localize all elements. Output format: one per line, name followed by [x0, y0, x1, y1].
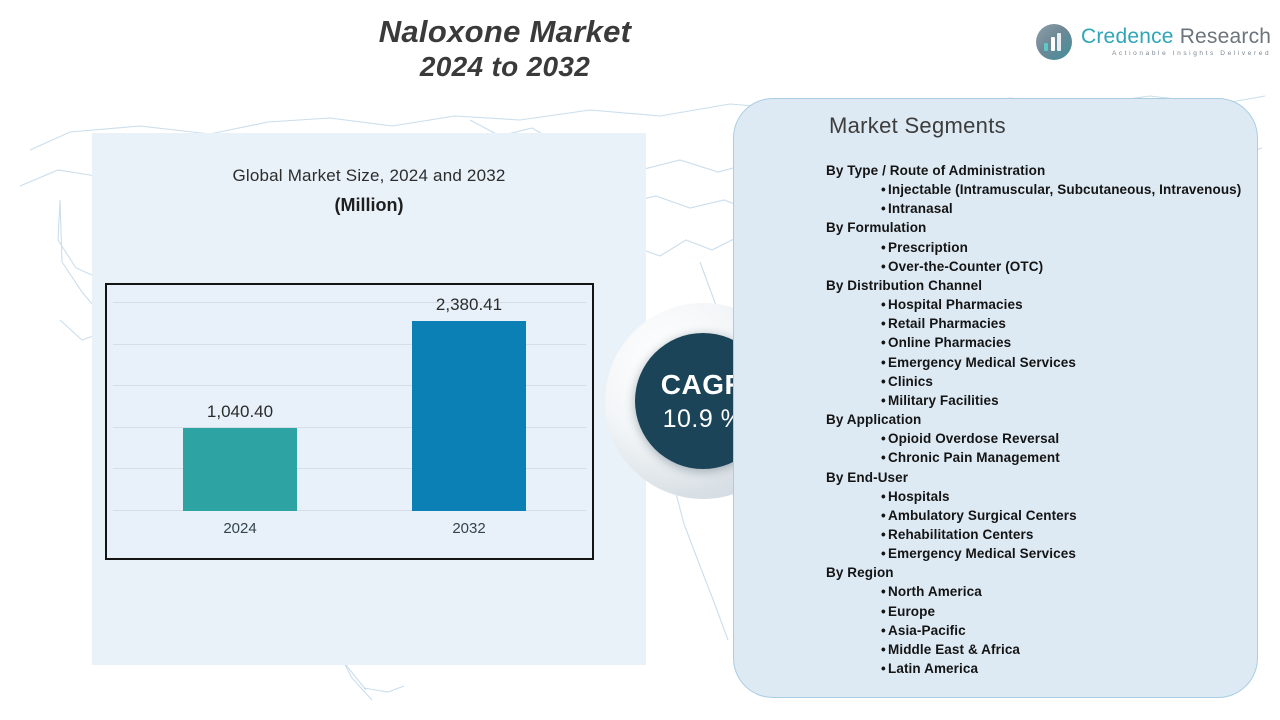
- segment-group: By Type / Route of Administration•Inject…: [826, 161, 1245, 218]
- segment-item-label: North America: [888, 582, 1245, 601]
- bullet-icon: •: [826, 199, 888, 218]
- segment-item-label: Online Pharmacies: [888, 333, 1245, 352]
- segment-list-item: •Chronic Pain Management: [826, 448, 1245, 467]
- segment-group-heading: By Formulation: [826, 218, 1245, 237]
- chart-caption: Global Market Size, 2024 and 2032 (Milli…: [92, 166, 646, 216]
- bullet-icon: •: [826, 257, 888, 276]
- bullet-icon: •: [826, 544, 888, 563]
- bullet-icon: •: [826, 429, 888, 448]
- title-line-1: Naloxone Market: [0, 14, 1010, 50]
- segment-list-item: •Clinics: [826, 372, 1245, 391]
- brand-name-secondary: Research: [1174, 25, 1272, 48]
- segment-item-label: Hospitals: [888, 487, 1245, 506]
- segment-list-item: •Injectable (Intramuscular, Subcutaneous…: [826, 180, 1245, 199]
- segment-item-label: Over-the-Counter (OTC): [888, 257, 1245, 276]
- segment-list-item: •Opioid Overdose Reversal: [826, 429, 1245, 448]
- segment-list-item: •Military Facilities: [826, 391, 1245, 410]
- segment-item-label: Intranasal: [888, 199, 1245, 218]
- segment-item-label: Middle East & Africa: [888, 640, 1245, 659]
- bar-category-label: 2032: [412, 511, 526, 537]
- bullet-icon: •: [826, 621, 888, 640]
- bar-chart-circle-icon: [1036, 24, 1072, 60]
- bullet-icon: •: [826, 353, 888, 372]
- segment-item-label: Opioid Overdose Reversal: [888, 429, 1245, 448]
- segment-list-item: •Ambulatory Surgical Centers: [826, 506, 1245, 525]
- segment-group: By Application•Opioid Overdose Reversal•…: [826, 410, 1245, 467]
- segment-item-label: Rehabilitation Centers: [888, 525, 1245, 544]
- market-segments-title: Market Segments: [734, 113, 1257, 139]
- segment-item-label: Clinics: [888, 372, 1245, 391]
- logo-bars: [1044, 33, 1061, 51]
- segment-list-item: •Hospitals: [826, 487, 1245, 506]
- brand-name: Credence Research: [1081, 26, 1271, 47]
- segment-group-heading: By Region: [826, 563, 1245, 582]
- segment-item-label: Chronic Pain Management: [888, 448, 1245, 467]
- segment-item-label: Europe: [888, 602, 1245, 621]
- segment-group-heading: By Distribution Channel: [826, 276, 1245, 295]
- segment-item-label: Injectable (Intramuscular, Subcutaneous,…: [888, 180, 1245, 199]
- bar-2032: [412, 321, 526, 511]
- segment-list-item: •Rehabilitation Centers: [826, 525, 1245, 544]
- bullet-icon: •: [826, 602, 888, 621]
- bullet-icon: •: [826, 487, 888, 506]
- segment-list-item: •Middle East & Africa: [826, 640, 1245, 659]
- segment-list-item: •Over-the-Counter (OTC): [826, 257, 1245, 276]
- segment-group-heading: By Type / Route of Administration: [826, 161, 1245, 180]
- bar-value-label: 1,040.40: [183, 402, 297, 428]
- bullet-icon: •: [826, 448, 888, 467]
- bullet-icon: •: [826, 525, 888, 544]
- segment-list-item: •Intranasal: [826, 199, 1245, 218]
- bullet-icon: •: [826, 640, 888, 659]
- brand-name-primary: Credence: [1081, 25, 1174, 48]
- segment-list-item: •Latin America: [826, 659, 1245, 678]
- bar-group: 2,380.412032: [412, 321, 526, 511]
- segment-group-heading: By Application: [826, 410, 1245, 429]
- brand-tagline: Actionable Insights Delivered: [1081, 51, 1271, 58]
- market-segments-panel: Market Segments By Type / Route of Admin…: [733, 98, 1258, 698]
- segment-group: By Formulation•Prescription•Over-the-Cou…: [826, 218, 1245, 275]
- bullet-icon: •: [826, 582, 888, 601]
- segment-group: By End-User•Hospitals•Ambulatory Surgica…: [826, 468, 1245, 564]
- brand-logo-text: Credence Research Actionable Insights De…: [1081, 26, 1271, 58]
- bullet-icon: •: [826, 238, 888, 257]
- bullet-icon: •: [826, 180, 888, 199]
- segment-item-label: Ambulatory Surgical Centers: [888, 506, 1245, 525]
- bullet-icon: •: [826, 372, 888, 391]
- segment-item-label: Retail Pharmacies: [888, 314, 1245, 333]
- cagr-value: 10.9 %: [663, 407, 744, 432]
- segment-list-item: •North America: [826, 582, 1245, 601]
- segment-list-item: •Retail Pharmacies: [826, 314, 1245, 333]
- bullet-icon: •: [826, 506, 888, 525]
- bullet-icon: •: [826, 659, 888, 678]
- bar-category-label: 2024: [183, 511, 297, 537]
- bar-chart: 1,040.4020242,380.412032: [105, 283, 594, 560]
- bullet-icon: •: [826, 391, 888, 410]
- title-line-2: 2024 to 2032: [0, 50, 1010, 84]
- segment-item-label: Military Facilities: [888, 391, 1245, 410]
- segment-list-item: •Prescription: [826, 238, 1245, 257]
- market-segments-list: By Type / Route of Administration•Inject…: [734, 161, 1257, 678]
- segment-group-heading: By End-User: [826, 468, 1245, 487]
- segment-list-item: •Asia-Pacific: [826, 621, 1245, 640]
- segment-list-item: •Online Pharmacies: [826, 333, 1245, 352]
- segment-item-label: Hospital Pharmacies: [888, 295, 1245, 314]
- segment-item-label: Prescription: [888, 238, 1245, 257]
- segment-group: By Distribution Channel•Hospital Pharmac…: [826, 276, 1245, 410]
- bullet-icon: •: [826, 333, 888, 352]
- chart-caption-line-1: Global Market Size, 2024 and 2032: [92, 166, 646, 186]
- segment-list-item: •Hospital Pharmacies: [826, 295, 1245, 314]
- segment-item-label: Latin America: [888, 659, 1245, 678]
- brand-logo: Credence Research Actionable Insights De…: [1036, 24, 1271, 60]
- segment-list-item: •Emergency Medical Services: [826, 353, 1245, 372]
- bullet-icon: •: [826, 295, 888, 314]
- bullet-icon: •: [826, 314, 888, 333]
- chart-plot-area: 1,040.4020242,380.412032: [107, 285, 592, 558]
- segment-list-item: •Europe: [826, 602, 1245, 621]
- page-title: Naloxone Market 2024 to 2032: [0, 14, 1010, 83]
- segment-item-label: Emergency Medical Services: [888, 544, 1245, 563]
- segment-item-label: Asia-Pacific: [888, 621, 1245, 640]
- bar-value-label: 2,380.41: [412, 295, 526, 321]
- bar-group: 1,040.402024: [183, 428, 297, 511]
- bar-2024: [183, 428, 297, 511]
- segment-group: By Region•North America•Europe•Asia-Paci…: [826, 563, 1245, 678]
- chart-caption-line-2: (Million): [92, 195, 646, 216]
- segment-list-item: •Emergency Medical Services: [826, 544, 1245, 563]
- segment-item-label: Emergency Medical Services: [888, 353, 1245, 372]
